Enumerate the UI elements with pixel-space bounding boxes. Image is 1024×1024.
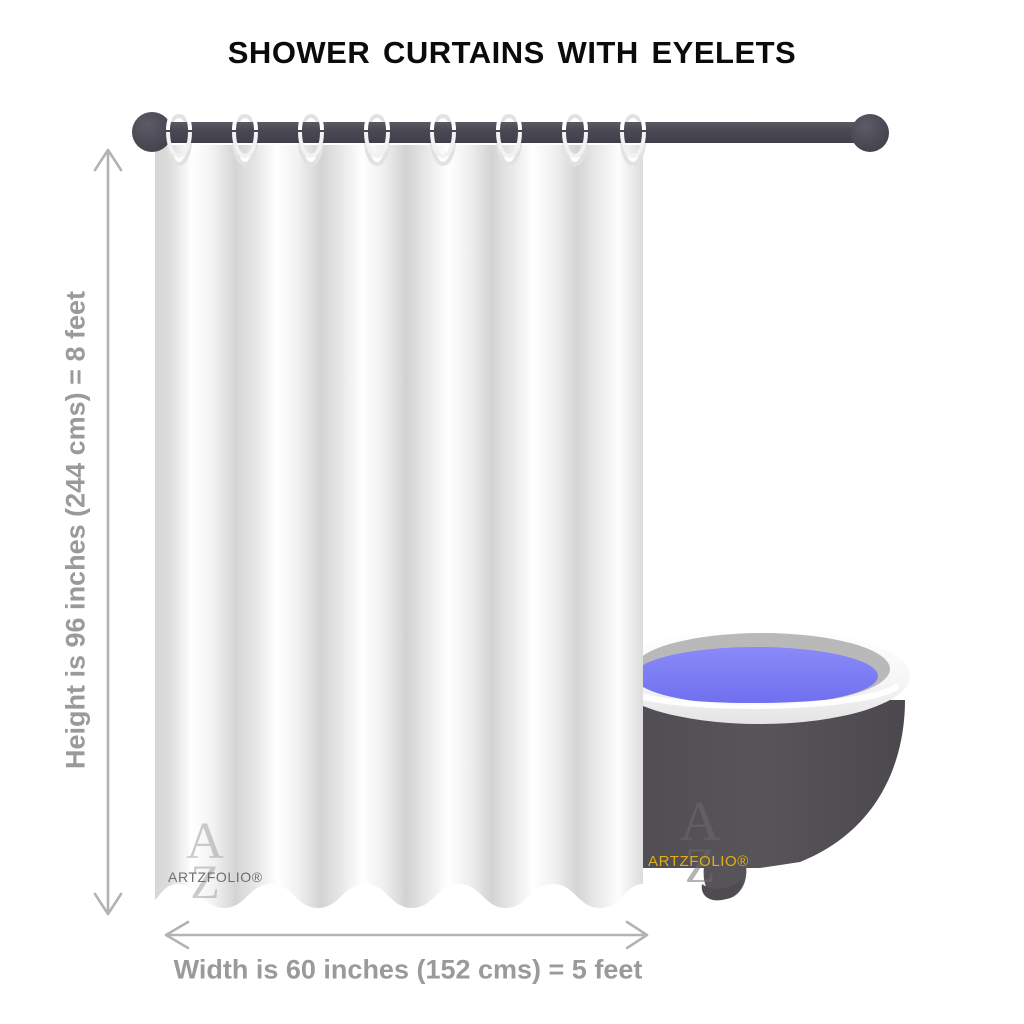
height-dimension-label: Height is 96 inches (244 cms) = 8 feet [61,291,92,769]
curtain-watermark-text: ARTZFOLIO® [168,869,263,885]
curtain-rod-bar [150,122,872,143]
bathtub-group: A Z ARTZFOLIO® [610,628,910,900]
diagram-canvas: Shower Curtains with Eyelets [0,0,1024,1024]
bathtub-body [612,700,905,868]
bathtub-watermark-text: ARTZFOLIO® [648,853,749,870]
shower-curtain-panel [155,145,643,920]
shower-curtain-group: A Z ARTZFOLIO® [155,145,643,920]
curtain-rod-finial-right [851,114,889,152]
width-dimension-label: Width is 60 inches (152 cms) = 5 feet [174,955,643,986]
product-illustration: A Z ARTZFOLIO® A Z ARTZFOLIO® [0,0,1024,1024]
bathtub-water [634,647,878,705]
width-dimension-arrow [166,922,647,948]
height-dimension-arrow [95,150,121,914]
